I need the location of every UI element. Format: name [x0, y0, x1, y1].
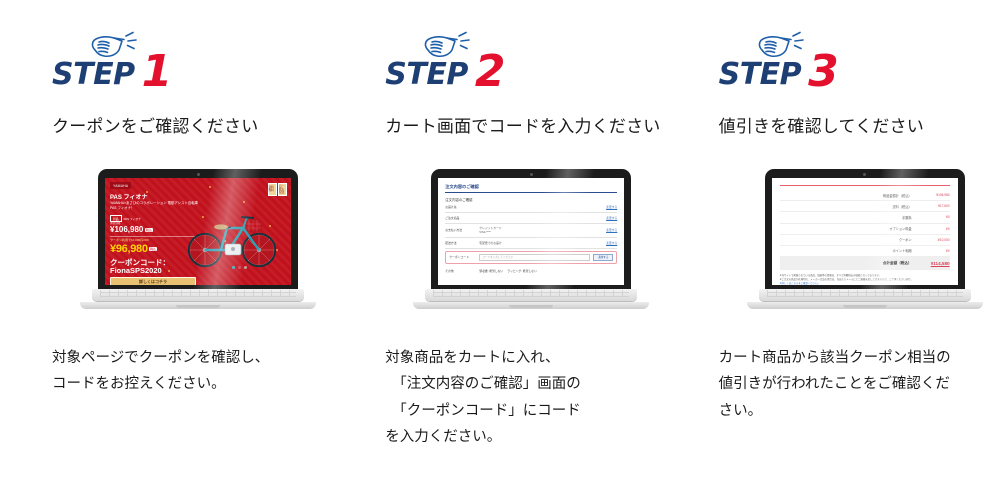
caption-line: を入力ください。 — [385, 424, 666, 450]
step-header-2: STEP 2 — [385, 30, 666, 94]
cart-row-value: 宅配便でのお届け — [479, 241, 602, 245]
summary-row: 送料（税込） ¥17,600 — [780, 201, 950, 212]
step-word: STEP — [719, 60, 802, 90]
caption-line: 「クーポンコード」にコード — [385, 398, 666, 424]
laptop-lid: 注文内容のご確認 注文内容のご確認 お届け先 変更する ご注文商品 — [431, 169, 631, 293]
promo-badge-0: 送料無料 — [268, 183, 277, 196]
product-page-screenshot: YAMAHA PAS フィオナ YAMAHA×あさひのコラボレーション 電動アシ… — [105, 178, 291, 285]
laptop-base-notch — [843, 305, 887, 308]
product-title: PAS フィオナ — [110, 192, 147, 201]
cart-row: お支払い方法 クレジットカード VISA **** 変更する — [445, 224, 617, 237]
step-number: 1 — [142, 54, 173, 90]
coupon-code-value: FionaSPS2020 — [110, 266, 162, 275]
coupon-code-row: クーポンコード コードを入力してください 適用する — [445, 251, 617, 264]
step-column-2: STEP 2 カート画面でコードを入力ください 注文内容のご確認 注文内容のご確… — [333, 0, 666, 500]
new-price-value: ¥96,980 — [110, 243, 148, 255]
laptop-base-notch — [509, 305, 553, 308]
cart-row-label: お届け先 — [445, 205, 475, 209]
step-word: STEP — [52, 60, 135, 90]
summary-label: クーポン — [826, 237, 912, 242]
laptop-mockup-3: 商品金額計（税込） ¥106,980 送料（税込） ¥17,600 手数料 ¥0 — [747, 169, 983, 309]
cart-row-label: ご注文商品 — [445, 216, 475, 220]
laptop-keyboard — [759, 289, 971, 301]
laptop-base-notch — [176, 305, 220, 308]
coupon-code-label: クーポンコード — [449, 255, 476, 259]
laptop-screen: 注文内容のご確認 注文内容のご確認 お届け先 変更する ご注文商品 — [438, 178, 624, 285]
summary-note-link[interactable]: ※詳しくはこちらをご確認ください。 — [780, 282, 950, 285]
summary-label: オプション料金 — [826, 226, 912, 231]
laptop-lid: YAMAHA PAS フィオナ YAMAHA×あさひのコラボレーション 電動アシ… — [98, 169, 298, 293]
product-tag-text: PAS フィオナ — [124, 217, 141, 221]
color-swatches[interactable] — [232, 266, 247, 269]
option-1[interactable]: 領収書: 希望しない — [479, 269, 503, 273]
summary-amount: ¥17,600 — [922, 204, 950, 208]
old-price-value: ¥106,980 — [110, 225, 143, 234]
step-header-1: STEP 1 — [52, 30, 333, 94]
step-caption: 対象商品をカートに入れ、 「注文内容のご確認」画面の 「クーポンコード」にコード… — [385, 345, 666, 451]
summary-amount: ¥0 — [922, 227, 950, 231]
laptop-lid: 商品金額計（税込） ¥106,980 送料（税込） ¥17,600 手数料 ¥0 — [765, 169, 965, 293]
summary-row: 手数料 ¥0 — [780, 212, 950, 223]
coupon-code-input[interactable]: コードを入力してください — [479, 254, 590, 261]
summary-notes: ※当サイトで掲載されている商品、価格等の情報は、すべて消費税込み価格となっており… — [780, 274, 950, 285]
laptop-screen: 商品金額計（税込） ¥106,980 送料（税込） ¥17,600 手数料 ¥0 — [772, 178, 958, 285]
laptop-keyboard — [425, 289, 637, 301]
summary-total-row: 合計金額（税込） ¥114,580 — [780, 257, 950, 270]
laptop-base — [747, 289, 983, 309]
summary-row: 商品金額計（税込） ¥106,980 — [780, 190, 950, 201]
new-price-tax: 税込 — [149, 247, 156, 251]
cart-options-row: その他 領収書: 希望しない ラッピング: 希望しない — [445, 266, 617, 277]
caption-line: 対象ページでクーポンを確認し、 — [52, 345, 333, 371]
step-number: 3 — [808, 54, 839, 90]
summary-label: ポイント利用 — [826, 248, 912, 253]
promo-badge-1: 日・祝も配送 — [278, 183, 287, 196]
cart-row-action[interactable]: 変更する — [606, 205, 617, 209]
summary-top-rule — [780, 185, 950, 186]
step-number: 2 — [475, 54, 506, 90]
laptop-base — [413, 289, 649, 309]
swatch-1[interactable] — [238, 266, 241, 269]
caption-line: 値引きが行われたことをご確認くだ — [719, 371, 1000, 397]
caption-line: コードをお控えください。 — [52, 371, 333, 397]
laptop-keyboard — [92, 289, 304, 301]
total-amount: ¥114,580 — [922, 261, 950, 266]
cart-row-label: 配送方法 — [445, 241, 475, 245]
coupon-discount-note: クーポン利用で10,000円OFF — [110, 238, 149, 242]
summary-amount: ¥106,980 — [922, 193, 950, 197]
step-headline: 値引きを確認してください — [719, 116, 1000, 139]
swatch-2[interactable] — [244, 266, 247, 269]
step-caption: 対象ページでクーポンを確認し、 コードをお控えください。 — [52, 345, 333, 398]
caption-line: 「注文内容のご確認」画面の — [385, 371, 666, 397]
steps-page: STEP 1 クーポンをご確認ください — [0, 0, 1000, 500]
cart-title-rule — [445, 192, 617, 193]
option-2[interactable]: ラッピング: 希望しない — [507, 269, 537, 273]
cart-row-action[interactable]: 変更する — [606, 228, 617, 232]
cart-row: ご注文商品 変更する — [445, 213, 617, 224]
brand-badge: YAMAHA — [110, 182, 131, 189]
cart-row-value: クレジットカード VISA **** — [479, 226, 602, 234]
step-headline: カート画面でコードを入力ください — [385, 116, 666, 139]
summary-label: 商品金額計（税込） — [826, 193, 912, 198]
order-summary-screenshot: 商品金額計（税込） ¥106,980 送料（税込） ¥17,600 手数料 ¥0 — [772, 178, 958, 285]
caption-line: さい。 — [719, 398, 1000, 424]
old-price-tax: 税込 — [145, 228, 153, 232]
summary-amount: ¥0 — [922, 215, 950, 219]
laptop-base — [80, 289, 316, 309]
laptop-screen: YAMAHA PAS フィオナ YAMAHA×あさひのコラボレーション 電動アシ… — [105, 178, 291, 285]
cart-form-screenshot: 注文内容のご確認 注文内容のご確認 お届け先 変更する ご注文商品 — [438, 178, 624, 285]
step-column-3: STEP 3 値引きを確認してください 商品金額計（税込） — [667, 0, 1000, 500]
cart-page-title: 注文内容のご確認 — [445, 184, 617, 190]
laptop-base-front — [413, 302, 649, 309]
cart-row: お届け先 変更する — [445, 202, 617, 213]
summary-row: ポイント利用 ¥0 — [780, 246, 950, 257]
summary-label: 送料（税込） — [826, 204, 912, 209]
steps-columns: STEP 1 クーポンをご確認ください — [0, 0, 1000, 500]
total-label: 合計金額（税込） — [826, 261, 912, 266]
cart-row-label: お支払い方法 — [445, 228, 475, 232]
step-headline: クーポンをご確認ください — [52, 116, 333, 139]
summary-amount: ¥0 — [922, 249, 950, 253]
cart-row: 配送方法 宅配便でのお届け 変更する — [445, 238, 617, 249]
new-price: ¥96,980税込 — [110, 243, 157, 255]
step-caption: カート商品から該当クーポン相当の 値引きが行われたことをご確認くだ さい。 — [719, 345, 1000, 424]
bicycle-product-image — [181, 208, 285, 270]
caption-line: 対象商品をカートに入れ、 — [385, 345, 666, 371]
cart-row-action[interactable]: 変更する — [606, 216, 617, 220]
laptop-base-front — [747, 302, 983, 309]
laptop-mockup-2: 注文内容のご確認 注文内容のご確認 お届け先 変更する ご注文商品 — [413, 169, 649, 309]
step-column-1: STEP 1 クーポンをご確認ください — [0, 0, 333, 500]
cart-row-action[interactable]: 変更する — [606, 241, 617, 245]
options-label: その他 — [445, 269, 475, 273]
caption-line: カート商品から該当クーポン相当の — [719, 345, 1000, 371]
details-button[interactable]: 詳しくはコチラ — [110, 277, 196, 285]
summary-label: 手数料 — [826, 215, 912, 220]
swatch-0[interactable] — [232, 266, 235, 269]
step-header-3: STEP 3 — [719, 30, 1000, 94]
apply-coupon-button[interactable]: 適用する — [593, 254, 613, 261]
laptop-mockup-1: YAMAHA PAS フィオナ YAMAHA×あさひのコラボレーション 電動アシ… — [80, 169, 316, 309]
promo-badges: 送料無料 日・祝も配送 — [268, 183, 288, 196]
step-word: STEP — [385, 60, 468, 90]
old-price: ¥106,980税込 — [110, 225, 153, 234]
summary-amount: -¥10,000 — [922, 238, 950, 242]
summary-row: オプション料金 ¥0 — [780, 224, 950, 235]
summary-row-coupon: クーポン -¥10,000 — [780, 235, 950, 246]
laptop-base-front — [80, 302, 316, 309]
